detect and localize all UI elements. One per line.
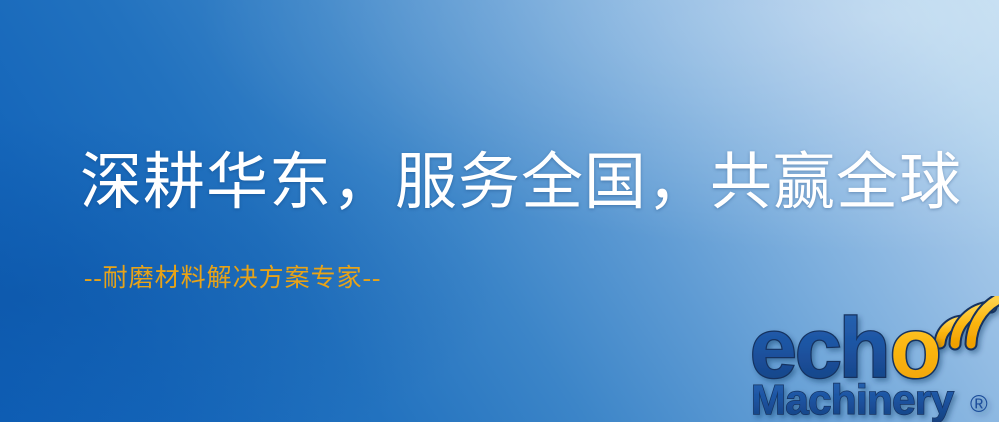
logo-svg: e c h o Machinery ®	[748, 296, 999, 422]
signal-waves-icon	[940, 300, 997, 344]
page-title: 深耕华东，服务全国，共赢全球	[80, 152, 962, 214]
logo-tagline-machinery: Machinery ®	[751, 376, 988, 422]
hero-banner: 深耕华东，服务全国，共赢全球 --耐磨材料解决方案专家--	[0, 0, 999, 422]
page-subtitle: --耐磨材料解决方案专家--	[84, 266, 381, 291]
logo-tagline-text: Machinery	[751, 376, 955, 422]
logo[interactable]: e c h o Machinery ®	[748, 296, 999, 422]
registered-trademark-icon: ®	[970, 391, 988, 418]
